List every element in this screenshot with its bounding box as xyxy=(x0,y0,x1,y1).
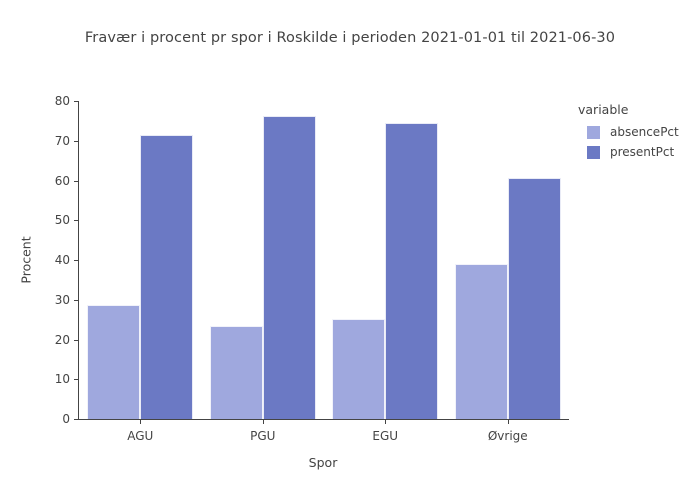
bar-agu-absencepct[interactable] xyxy=(87,305,140,419)
plot-area: 01020304050607080AGUPGUEGUØvrige xyxy=(78,101,569,420)
y-axis-tick-mark xyxy=(74,220,79,221)
legend-swatch-icon xyxy=(587,126,600,139)
x-axis-tick-label: PGU xyxy=(250,429,275,443)
bar-øvrige-absencepct[interactable] xyxy=(455,264,508,419)
x-axis-tick-mark xyxy=(263,419,264,424)
bar-chart: Fravær i procent pr spor i Roskilde i pe… xyxy=(0,0,700,500)
y-axis-title: Procent xyxy=(19,236,34,283)
y-axis-tick-mark xyxy=(74,101,79,102)
bar-egu-presentpct[interactable] xyxy=(385,123,438,419)
legend-label: absencePct xyxy=(610,125,679,139)
bar-pgu-presentpct[interactable] xyxy=(263,116,316,419)
bar-pgu-absencepct[interactable] xyxy=(210,326,263,419)
legend-item-absencepct[interactable]: absencePct xyxy=(587,125,696,139)
x-axis-tick-mark xyxy=(140,419,141,424)
legend-items: absencePctpresentPct xyxy=(578,125,696,159)
legend-label: presentPct xyxy=(610,145,674,159)
bar-egu-absencepct[interactable] xyxy=(332,319,385,419)
y-axis-tick-mark xyxy=(74,419,79,420)
legend-item-presentpct[interactable]: presentPct xyxy=(587,145,696,159)
x-axis-tick-label: AGU xyxy=(127,429,153,443)
chart-title: Fravær i procent pr spor i Roskilde i pe… xyxy=(0,30,700,46)
y-axis-tick-mark xyxy=(74,141,79,142)
legend-title: variable xyxy=(578,102,696,117)
x-axis-tick-mark xyxy=(385,419,386,424)
bars-layer xyxy=(79,101,569,419)
y-axis-tick-mark xyxy=(74,181,79,182)
x-axis-tick-mark xyxy=(508,419,509,424)
x-axis-tick-label: EGU xyxy=(372,429,398,443)
bar-group xyxy=(324,101,447,419)
x-axis-title: Spor xyxy=(309,455,338,470)
bar-group xyxy=(447,101,570,419)
y-axis-tick-mark xyxy=(74,260,79,261)
x-axis-tick-label: Øvrige xyxy=(488,429,528,443)
bar-agu-presentpct[interactable] xyxy=(140,135,193,419)
y-axis-tick-mark xyxy=(74,340,79,341)
bar-øvrige-presentpct[interactable] xyxy=(508,178,561,419)
bar-group xyxy=(202,101,325,419)
y-axis-tick-mark xyxy=(74,300,79,301)
legend-swatch-icon xyxy=(587,146,600,159)
bar-group xyxy=(79,101,202,419)
legend: variable absencePctpresentPct xyxy=(578,102,696,165)
y-axis-tick-mark xyxy=(74,379,79,380)
